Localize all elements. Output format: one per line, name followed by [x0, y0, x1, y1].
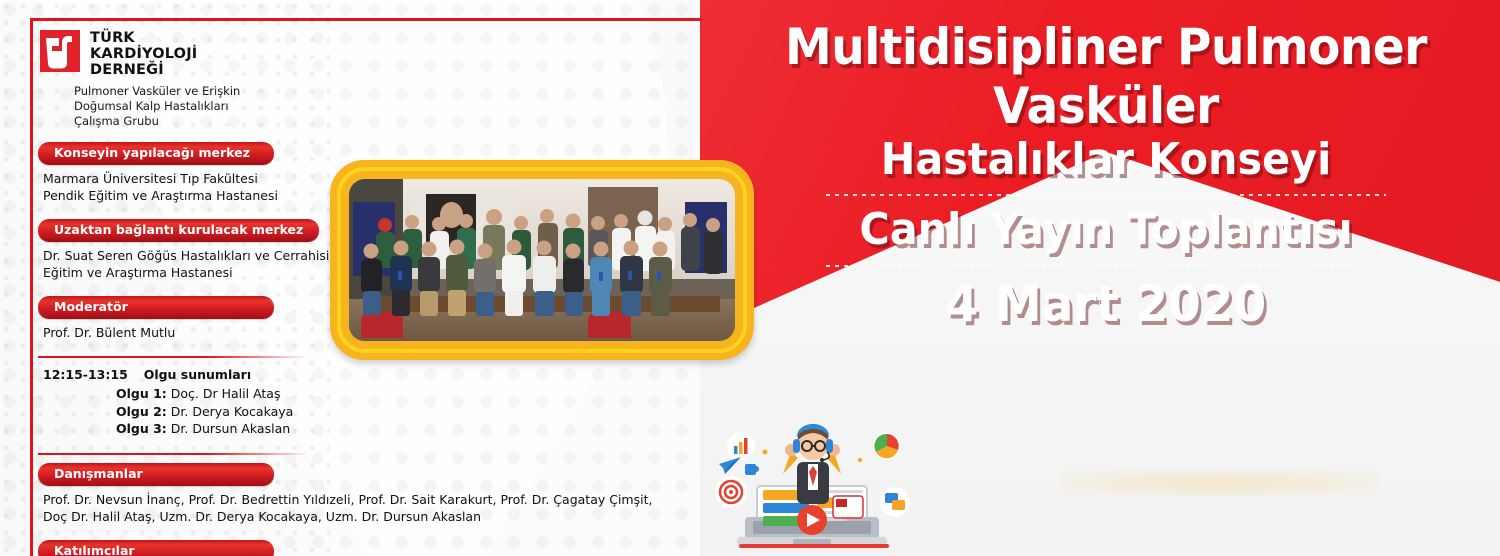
session-block: 12:15-13:15 Olgu sunumları Olgu 1: Doç. …: [38, 366, 658, 438]
webinar-presenter-illustration: [705, 412, 920, 556]
play-button-icon: [797, 505, 827, 535]
case-line: Olgu 2: Dr. Derya Kocakaya: [116, 403, 658, 421]
organization-logo: TÜRK KARDİYOLOJİ DERNEĞİ: [40, 30, 197, 79]
title-divider-top: [826, 194, 1386, 196]
session-row: 12:15-13:15 Olgu sunumları: [43, 366, 658, 385]
title-block: Multidisipliner Pulmoner Vasküler Hastal…: [712, 18, 1500, 332]
event-title-line2: Hastalıklar Konseyi: [736, 136, 1477, 184]
session-label: Olgu sunumları: [144, 367, 251, 382]
working-group-line-2: Doğumsal Kalp Hastalıkları: [74, 99, 240, 114]
advisors-line-2: Doç Dr. Halil Ataş, Uzm. Dr. Derya Kocak…: [43, 508, 658, 525]
pie-chart-icon: [873, 432, 901, 460]
chat-bubbles-icon: [880, 487, 910, 517]
remote-center-heading: Uzaktan bağlantı kurulacak merkez: [38, 219, 319, 242]
puzzle-piece-icon: [745, 464, 759, 475]
working-group-line-1: Pulmoner Vasküler ve Erişkin: [74, 84, 240, 99]
event-subtitle: Canlı Yayın Toplantısı: [736, 206, 1477, 254]
title-divider-bottom: [826, 265, 1386, 267]
case-2-label: Olgu 2:: [116, 404, 167, 419]
case-2-presenter: Dr. Derya Kocakaya: [167, 404, 294, 419]
participants-heading: Katılımcılar: [38, 540, 274, 556]
venue-heading: Konseyin yapılacağı merkez: [38, 142, 274, 165]
heart-logo-icon: [40, 30, 80, 72]
content-frame-top-fade: [430, 18, 705, 21]
bar-chart-icon: [727, 432, 755, 460]
photo-people: [349, 179, 735, 341]
case-line: Olgu 3: Dr. Dursun Akaslan: [116, 420, 658, 438]
case-1-label: Olgu 1:: [116, 386, 167, 401]
speech-bubble-photo-frame: [330, 160, 754, 360]
advisors-line-1: Prof. Dr. Nevsun İnanç, Prof. Dr. Bedret…: [43, 491, 658, 508]
logo-line-2: KARDİYOLOJİ: [90, 46, 197, 62]
advisors-block: Danışmanlar Prof. Dr. Nevsun İnanç, Prof…: [38, 463, 658, 525]
logo-line-3: DERNEĞİ: [90, 62, 197, 78]
target-icon: [715, 476, 747, 508]
logo-line-1: TÜRK: [90, 30, 197, 46]
poster-canvas: Multidisipliner Pulmoner Vasküler Hastal…: [0, 0, 1500, 556]
case-line: Olgu 1: Doç. Dr Halil Ataş: [116, 385, 658, 403]
organization-name: TÜRK KARDİYOLOJİ DERNEĞİ: [90, 30, 197, 79]
participants-block: Katılımcılar Doç. Dr. Gülru Polat, Doç. …: [38, 540, 658, 556]
advisors-heading: Danışmanlar: [38, 463, 274, 486]
session-time: 12:15-13:15: [43, 367, 128, 382]
event-title-line1: Multidisipliner Pulmoner Vasküler: [736, 18, 1477, 136]
case-3-presenter: Dr. Dursun Akaslan: [167, 421, 290, 436]
bottom-glow: [1060, 470, 1380, 496]
group-photo: [349, 179, 735, 341]
moderator-heading: Moderatör: [38, 296, 274, 319]
working-group-subtitle: Pulmoner Vasküler ve Erişkin Doğumsal Ka…: [74, 84, 240, 130]
event-date: 4 Mart 2020: [736, 277, 1477, 332]
working-group-line-3: Çalışma Grubu: [74, 114, 240, 129]
divider-above-session: [38, 356, 310, 358]
paper-plane-icon: [719, 457, 741, 474]
advisors-details: Prof. Dr. Nevsun İnanç, Prof. Dr. Bedret…: [43, 491, 658, 526]
case-3-label: Olgu 3:: [116, 421, 167, 436]
divider-below-session: [38, 453, 310, 455]
case-1-presenter: Doç. Dr Halil Ataş: [167, 386, 281, 401]
